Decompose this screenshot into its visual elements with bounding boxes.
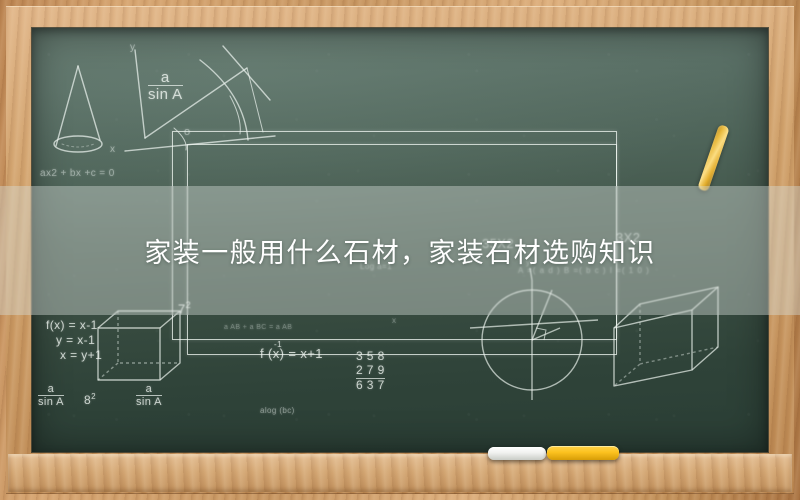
page-title: 家装一般用什么石材，家装石材选购知识 bbox=[144, 231, 655, 270]
cover-image: a sin A y x o ax2 + bx +c = 0 f(x) = x-1… bbox=[0, 0, 800, 500]
chalk-function-stack: f(x) = x-1 y = x-1 x = y+1 bbox=[46, 318, 102, 363]
chalk-piece-white bbox=[488, 447, 546, 460]
chalk-quadratic-equation: ax2 + bx +c = 0 bbox=[40, 168, 115, 179]
chalk-label-y-top: y bbox=[130, 42, 135, 53]
chalk-label-x-top: x bbox=[110, 144, 115, 155]
title-banner: 家装一般用什么石材，家装石材选购知识 bbox=[0, 186, 800, 315]
chalk-fraction-a-sinA-top: a sin A bbox=[148, 70, 183, 103]
chalk-fraction-a-sinA-cube: a sin A bbox=[136, 384, 162, 408]
chalk-fraction-a-sinA-left: a sin A bbox=[38, 384, 64, 408]
chalk-long-division: 3 5 8 2 7 9 6 3 7 bbox=[356, 350, 385, 393]
chalk-piece-yellow bbox=[547, 446, 619, 460]
chalk-eight-squared: 82 bbox=[84, 392, 96, 407]
chalk-alog: alog (bc) bbox=[260, 406, 295, 415]
chalk-ledge bbox=[8, 454, 792, 492]
